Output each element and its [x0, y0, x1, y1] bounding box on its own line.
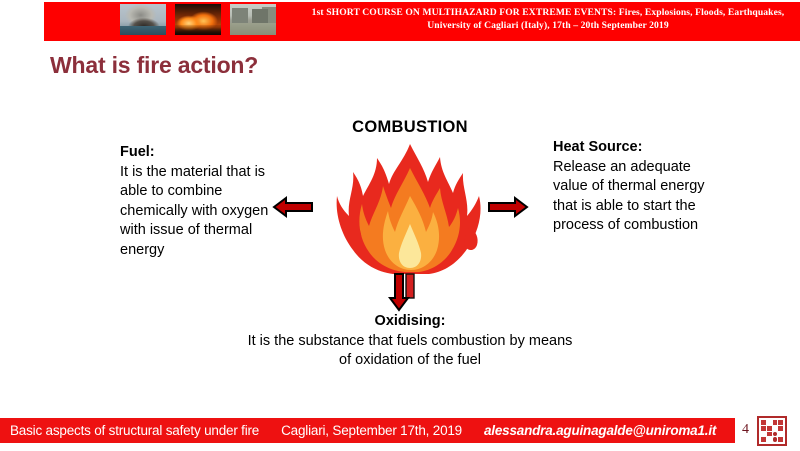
header-thumbnail-strip	[120, 4, 276, 35]
oxidising-body: It is the substance that fuels combustio…	[248, 333, 573, 369]
logo-cell	[778, 426, 783, 431]
combustion-label: COMBUSTION	[300, 118, 520, 137]
logo-cell	[761, 432, 766, 437]
logo-cell	[761, 437, 766, 442]
logo-cell-circle	[773, 437, 778, 442]
logo-cell	[778, 437, 783, 442]
arrow-pointing-right-icon	[487, 196, 529, 223]
flood-photo-icon	[230, 4, 276, 35]
header-title-line-1: 1st SHORT COURSE ON MULTIHAZARD FOR EXTR…	[300, 6, 796, 19]
page-number: 4	[742, 422, 749, 438]
logo-cell-circle	[773, 432, 778, 437]
logo-cell	[761, 426, 766, 431]
heat-source-body: Release an adequate value of thermal ene…	[553, 159, 705, 234]
page-title: What is fire action?	[50, 52, 258, 79]
heat-source-heading: Heat Source:	[553, 138, 728, 158]
logo-cell	[773, 420, 778, 425]
fuel-text-block: Fuel: It is the material that is able to…	[120, 143, 280, 260]
heat-source-text-block: Heat Source: Release an adequate value o…	[553, 138, 728, 236]
logo-cell	[773, 426, 778, 431]
footer-email: alessandra.aguinagalde@uniroma1.it	[484, 423, 716, 438]
footer-bar: Basic aspects of structural safety under…	[0, 418, 735, 443]
header-title-line-2: University of Cagliari (Italy), 17th – 2…	[300, 19, 796, 32]
header-course-title: 1st SHORT COURSE ON MULTIHAZARD FOR EXTR…	[300, 6, 796, 32]
arrow-pointing-down-icon	[388, 272, 410, 317]
logo-cell	[767, 420, 772, 425]
fuel-heading: Fuel:	[120, 143, 280, 163]
footer-date-location: Cagliari, September 17th, 2019	[281, 423, 462, 438]
oxidising-text-block: Oxidising: It is the substance that fuel…	[240, 312, 580, 371]
logo-cell	[778, 432, 783, 437]
fuel-body: It is the material that is able to combi…	[120, 164, 268, 258]
oxidising-heading: Oxidising:	[240, 312, 580, 332]
footer-course-name: Basic aspects of structural safety under…	[10, 423, 259, 438]
logo-cell	[767, 426, 772, 431]
logo-cell	[778, 420, 783, 425]
logo-cell	[761, 420, 766, 425]
logo-cell	[767, 437, 772, 442]
flame-illustration	[333, 140, 488, 300]
fire-photo-icon	[175, 4, 221, 35]
explosion-photo-icon	[120, 4, 166, 35]
logo-cell	[767, 432, 772, 437]
university-logo	[757, 416, 787, 446]
